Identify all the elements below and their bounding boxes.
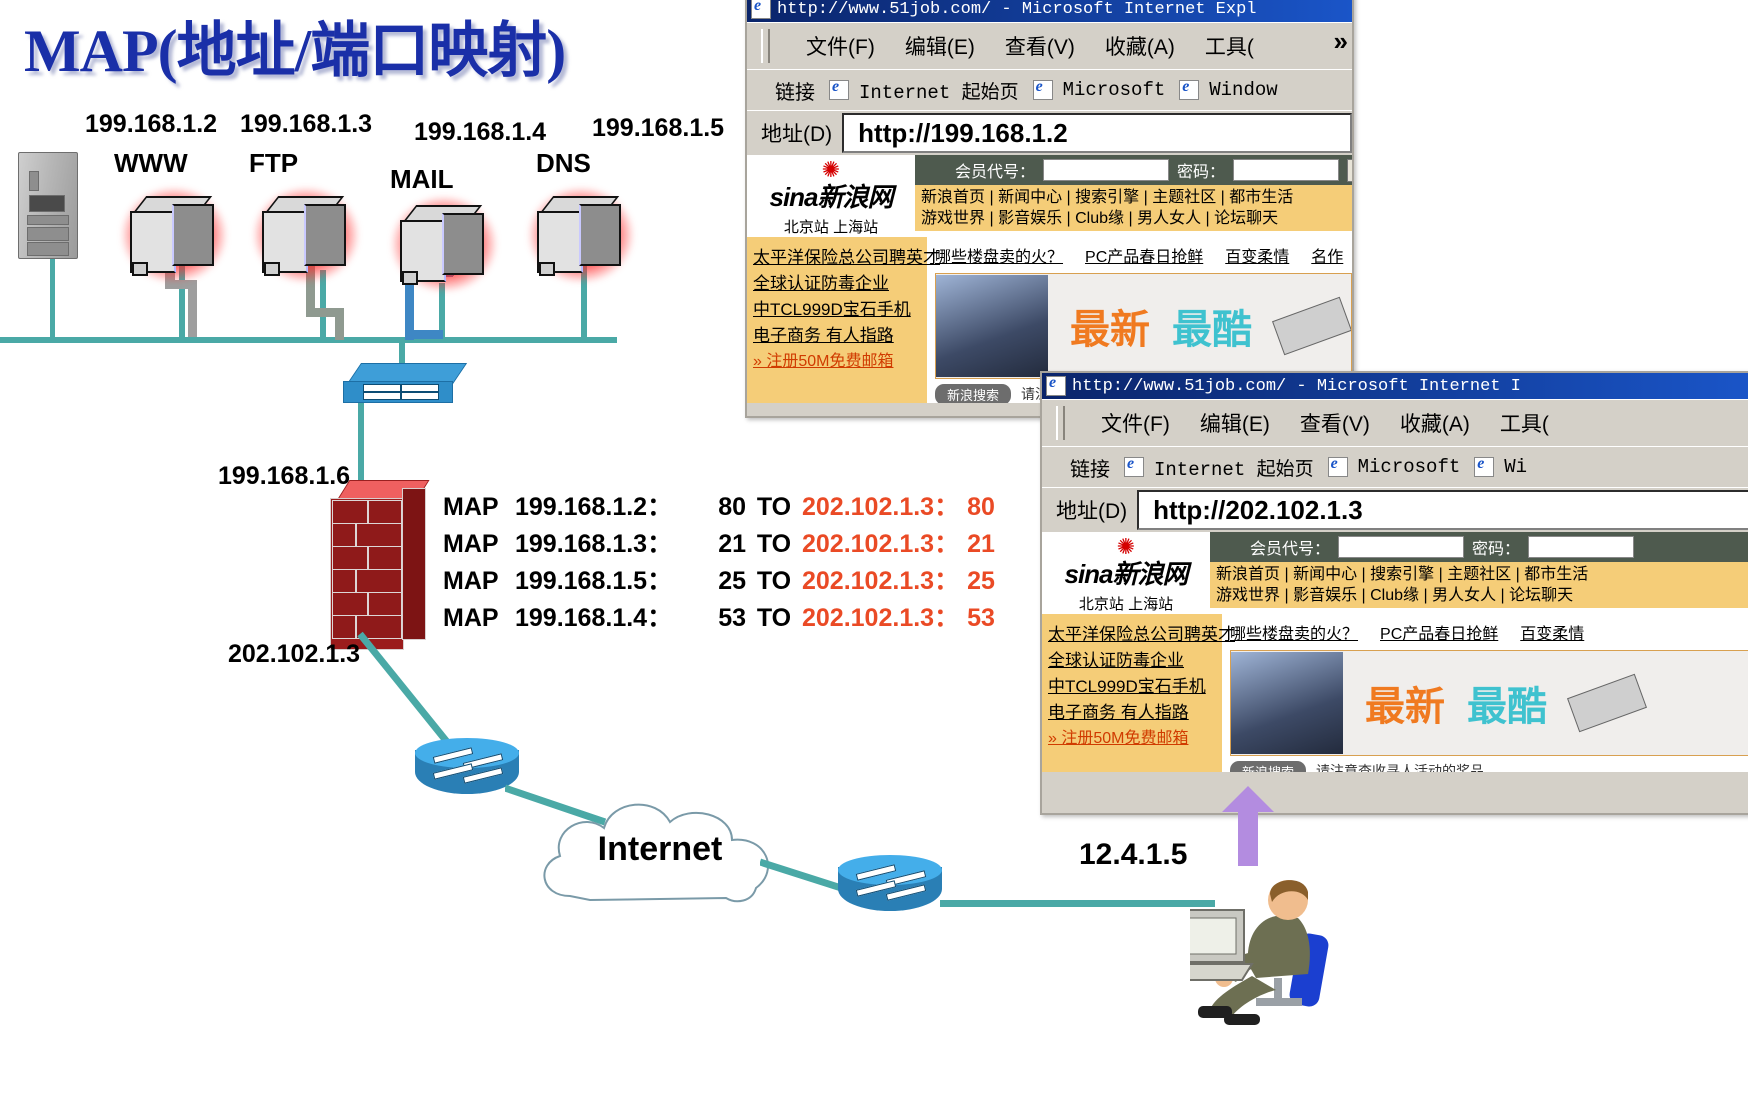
sina-headlines: 哪些楼盘卖的火？ PC产品春日抢鲜 百变柔情 名作 xyxy=(935,243,1352,267)
map-dest-port: 21 xyxy=(959,530,995,559)
nav-city[interactable]: 都市生活 xyxy=(1524,566,1588,583)
browser-addressbar-1[interactable]: 地址(D) http://199.168.1.2 xyxy=(747,110,1352,155)
patch-cable-grey-www3 xyxy=(188,280,197,337)
banner-word-coolest: 最酷 xyxy=(1467,674,1547,732)
sina-nav[interactable]: 新浪首页 | 新闻中心 | 搜索引擎 | 主题社区 | 都市生活 游戏世界 | … xyxy=(1210,562,1748,608)
browser-linksbar-1[interactable]: 链接 Internet 起始页 Microsoft Window xyxy=(747,69,1352,110)
sina-headlines: 哪些楼盘卖的火？ PC产品春日抢鲜 百变柔情 xyxy=(1230,620,1748,644)
address-input[interactable]: http://199.168.1.2 xyxy=(842,113,1352,153)
nav-home[interactable]: 新浪首页 xyxy=(1216,566,1280,583)
browser-menubar-2[interactable]: 文件(F) 编辑(E) 查看(V) 收藏(A) 工具( xyxy=(1042,399,1748,446)
menu-item-tools[interactable]: 工具( xyxy=(1205,31,1254,61)
sina-banner-ad[interactable]: 最新 最酷 xyxy=(1230,650,1748,756)
server-name-label-www: WWW xyxy=(114,148,188,179)
member-id-input[interactable] xyxy=(1338,536,1464,558)
map-dest-port: 80 xyxy=(959,493,995,522)
link-label: Microsoft xyxy=(1358,456,1461,478)
sina-nav-row1: 新浪首页 | 新闻中心 | 搜索引擎 | 主题社区 | 都市生活 xyxy=(921,187,1352,208)
browser-content-1: ✺ sina新浪网 北京站 上海站 会员代号： 密码： 50M邮 新浪首页 | … xyxy=(747,155,1352,403)
server-ip-label-mail: 199.168.1.4 xyxy=(414,118,546,147)
sina-search-row[interactable]: 新浪搜索 请注意查收寻人活动的奖品 xyxy=(1230,760,1748,772)
browser-title-text-2: http://www.51job.com/ - Microsoft Intern… xyxy=(1072,377,1521,396)
ie-logo-icon xyxy=(751,0,771,19)
map-dest-ip: 202.102.1.3： xyxy=(802,598,959,634)
map-dest-ip: 202.102.1.3： xyxy=(802,524,959,560)
headline-works[interactable]: 名作 xyxy=(1311,243,1343,267)
password-label: 密码： xyxy=(1177,158,1225,182)
nav-search[interactable]: 搜索引擎 xyxy=(1075,189,1139,206)
sina-logo[interactable]: ✺ sina新浪网 北京站 上海站 xyxy=(747,155,915,237)
patch-cable-blue-mail4 xyxy=(405,330,443,339)
banner-word-newest: 最新 xyxy=(1365,674,1445,732)
lan-backbone-wire xyxy=(0,337,617,343)
side-link-ecommerce[interactable]: 电子商务 有人指路 xyxy=(753,323,921,349)
map-source-port: 80 xyxy=(690,493,746,522)
menubar-grip[interactable] xyxy=(1056,406,1065,440)
page-icon xyxy=(1179,80,1199,100)
internet-cloud: Internet xyxy=(530,778,790,928)
nav-menwomen[interactable]: 男人女人 xyxy=(1137,210,1201,227)
router-icon-edge xyxy=(415,738,519,804)
map-to-keyword: TO xyxy=(746,530,802,559)
banner-word-coolest: 最酷 xyxy=(1172,297,1252,355)
browser-menubar-1[interactable]: 文件(F) 编辑(E) 查看(V) 收藏(A) 工具( xyxy=(747,22,1352,69)
sina-logo-text: sina新浪网 xyxy=(1042,554,1210,591)
firewall-icon xyxy=(330,480,426,650)
browser-window-2[interactable]: http://www.51job.com/ - Microsoft Intern… xyxy=(1040,371,1748,815)
links-label: 链接 xyxy=(1070,453,1110,482)
map-to-keyword: TO xyxy=(746,493,802,522)
map-keyword: MAP xyxy=(443,530,515,559)
sina-nav-row2: 游戏世界 | 影音娱乐 | Club缘 | 男人女人 | 论坛聊天 xyxy=(1216,585,1746,606)
map-rule-row: MAP 199.168.1.4： 53 TO 202.102.1.3： 53 xyxy=(443,598,995,635)
address-input[interactable]: http://202.102.1.3 xyxy=(1137,490,1748,530)
map-dest-port: 25 xyxy=(959,567,995,596)
links-label: 链接 xyxy=(775,76,815,105)
menubar-grip[interactable] xyxy=(761,29,770,63)
browser-title-text-1: http://www.51job.com/ - Microsoft Intern… xyxy=(777,0,1256,19)
map-keyword: MAP xyxy=(443,567,515,596)
nav-forum[interactable]: 论坛聊天 xyxy=(1214,210,1278,227)
side-link-insurance[interactable]: 太平洋保险总公司聘英才 xyxy=(1048,622,1216,648)
sina-login-bar[interactable]: 会员代号： 密码： xyxy=(1210,532,1748,562)
browser-content-2: ✺ sina新浪网 北京站 上海站 会员代号： 密码： 新浪首页 | 新闻中心 … xyxy=(1042,532,1748,772)
map-to-keyword: TO xyxy=(746,567,802,596)
server-icon-mail xyxy=(400,205,488,283)
link-microsoft[interactable]: Microsoft xyxy=(1033,79,1166,101)
map-source-port: 25 xyxy=(690,567,746,596)
nav-forum[interactable]: 论坛聊天 xyxy=(1509,587,1573,604)
link-windows[interactable]: Window xyxy=(1179,79,1277,101)
mail-50m-button[interactable]: 50M邮 xyxy=(1347,159,1352,182)
sina-banner-ad[interactable]: 最新 最酷 xyxy=(935,273,1352,379)
server-name-label-mail: MAIL xyxy=(390,164,454,195)
menu-item-file[interactable]: 文件(F) xyxy=(1101,408,1170,438)
nav-media[interactable]: 影音娱乐 xyxy=(998,210,1062,227)
sina-logo[interactable]: ✺ sina新浪网 北京站 上海站 xyxy=(1042,532,1210,614)
patch-cable-grey-ftp3 xyxy=(335,308,344,340)
map-source-ip: 199.168.1.2： xyxy=(515,487,690,523)
map-source-ip: 199.168.1.4： xyxy=(515,598,690,634)
map-rule-row: MAP 199.168.1.5： 25 TO 202.102.1.3： 25 xyxy=(443,561,995,598)
browser-titlebar-1: http://www.51job.com/ - Microsoft Intern… xyxy=(747,0,1352,22)
chevron-overflow-icon[interactable]: » xyxy=(1334,26,1348,57)
address-label: 地址(D) xyxy=(1056,495,1127,525)
side-link-ecommerce[interactable]: 电子商务 有人指路 xyxy=(1048,700,1216,726)
map-source-ip: 199.168.1.3： xyxy=(515,524,690,560)
sina-search-text: 请注意查收寻人活动的奖品 xyxy=(1316,761,1484,772)
sina-eye-icon: ✺ xyxy=(747,163,915,177)
map-rule-row: MAP 199.168.1.3： 21 TO 202.102.1.3： 21 xyxy=(443,524,995,561)
mobile-phone-icon xyxy=(1567,674,1647,732)
sina-nav-row2: 游戏世界 | 影音娱乐 | Club缘 | 男人女人 | 论坛聊天 xyxy=(921,208,1352,229)
nav-menwomen[interactable]: 男人女人 xyxy=(1432,587,1496,604)
browser-addressbar-2[interactable]: 地址(D) http://202.102.1.3 xyxy=(1042,487,1748,532)
banner-photo xyxy=(1231,652,1343,754)
side-link-tcl-phone[interactable]: 中TCL999D宝石手机 xyxy=(1048,674,1216,700)
page-title: MAP(地址/端口映射) xyxy=(24,2,565,89)
map-rules-block: MAP 199.168.1.2： 80 TO 202.102.1.3： 80 M… xyxy=(443,487,995,635)
nav-games[interactable]: 游戏世界 xyxy=(921,210,985,227)
page-icon xyxy=(829,80,849,100)
side-link-free-mail[interactable]: » 注册50M免费邮箱 xyxy=(1048,726,1216,752)
server-ip-label-www: 199.168.1.2 xyxy=(85,110,217,139)
sina-search-tab[interactable]: 新浪搜索 xyxy=(935,384,1011,404)
password-input[interactable] xyxy=(1528,536,1634,558)
password-input[interactable] xyxy=(1233,159,1339,181)
sina-stations[interactable]: 北京站 上海站 xyxy=(747,216,915,237)
nav-search[interactable]: 搜索引擎 xyxy=(1370,566,1434,583)
map-source-ip: 199.168.1.5： xyxy=(515,561,690,597)
server-ip-label-ftp: 199.168.1.3 xyxy=(240,110,372,139)
link-label: Internet 起始页 xyxy=(1154,454,1314,481)
link-label: Microsoft xyxy=(1063,79,1166,101)
page-icon xyxy=(1124,457,1144,477)
server-name-label-ftp: FTP xyxy=(249,148,298,179)
link-label: Wi xyxy=(1504,456,1527,478)
sina-sidebar-1: 太平洋保险总公司聘英才 全球认证防毒企业 中TCL999D宝石手机 电子商务 有… xyxy=(747,237,927,403)
server-ip-label-dns: 199.168.1.5 xyxy=(592,114,724,143)
member-id-label: 会员代号： xyxy=(1250,535,1330,559)
server-icon-ftp xyxy=(262,196,350,274)
browser-window-1[interactable]: http://www.51job.com/ - Microsoft Intern… xyxy=(745,0,1354,418)
member-id-label: 会员代号： xyxy=(955,158,1035,182)
map-to-keyword: TO xyxy=(746,604,802,633)
nav-city[interactable]: 都市生活 xyxy=(1229,189,1293,206)
link-windows[interactable]: Wi xyxy=(1474,456,1527,478)
nav-home[interactable]: 新浪首页 xyxy=(921,189,985,206)
page-icon xyxy=(1033,80,1053,100)
map-keyword: MAP xyxy=(443,493,515,522)
menu-item-edit[interactable]: 编辑(E) xyxy=(1200,408,1270,438)
mobile-phone-icon xyxy=(1272,297,1352,355)
map-dest-port: 53 xyxy=(959,604,995,633)
password-label: 密码： xyxy=(1472,535,1520,559)
ie-logo-icon xyxy=(1046,376,1066,396)
sina-stations[interactable]: 北京站 上海站 xyxy=(1042,593,1210,614)
client-user-with-laptop xyxy=(1190,848,1370,1028)
link-label: Internet 起始页 xyxy=(859,77,1019,104)
banner-photo xyxy=(936,275,1048,377)
link-internet-start[interactable]: Internet 起始页 xyxy=(829,77,1019,104)
nav-club[interactable]: Club缘 xyxy=(1075,210,1124,227)
server-icon-www xyxy=(130,196,218,274)
menu-item-favorites[interactable]: 收藏(A) xyxy=(1400,408,1470,438)
headline-pc[interactable]: PC产品春日抢鲜 xyxy=(1085,243,1203,267)
tower-pc xyxy=(18,152,78,259)
nav-games[interactable]: 游戏世界 xyxy=(1216,587,1280,604)
menu-item-file[interactable]: 文件(F) xyxy=(806,31,875,61)
link-label: Window xyxy=(1209,79,1277,101)
headline-romance[interactable]: 百变柔情 xyxy=(1520,620,1584,644)
sina-page-1: ✺ sina新浪网 北京站 上海站 会员代号： 密码： 50M邮 新浪首页 | … xyxy=(747,155,1352,237)
nav-community[interactable]: 主题社区 xyxy=(1152,189,1216,206)
link-internet-start[interactable]: Internet 起始页 xyxy=(1124,454,1314,481)
browser-linksbar-2[interactable]: 链接 Internet 起始页 Microsoft Wi xyxy=(1042,446,1748,487)
headline-pc[interactable]: PC产品春日抢鲜 xyxy=(1380,620,1498,644)
sina-main-2: 哪些楼盘卖的火？ PC产品春日抢鲜 百变柔情 最新 最酷 新浪搜索 请注意查收寻… xyxy=(1222,614,1748,772)
router2-client-wire xyxy=(940,900,1215,907)
page-icon xyxy=(1474,457,1494,477)
client-ip-label: 12.4.1.5 xyxy=(1079,838,1187,872)
member-id-input[interactable] xyxy=(1043,159,1169,181)
sina-login-bar[interactable]: 会员代号： 密码： 50M邮 xyxy=(915,155,1352,185)
nav-news[interactable]: 新闻中心 xyxy=(1293,566,1357,583)
map-rule-row: MAP 199.168.1.2： 80 TO 202.102.1.3： 80 xyxy=(443,487,995,524)
banner-word-newest: 最新 xyxy=(1070,297,1150,355)
address-label: 地址(D) xyxy=(761,118,832,148)
side-link-tcl-phone[interactable]: 中TCL999D宝石手机 xyxy=(753,297,921,323)
server-name-label-dns: DNS xyxy=(536,148,591,179)
map-dest-ip: 202.102.1.3： xyxy=(802,487,959,523)
side-link-insurance[interactable]: 太平洋保险总公司聘英才 xyxy=(753,245,921,271)
router-icon-client xyxy=(838,855,942,921)
sina-nav[interactable]: 新浪首页 | 新闻中心 | 搜索引擎 | 主题社区 | 都市生活 游戏世界 | … xyxy=(915,185,1352,231)
menu-item-view[interactable]: 查看(V) xyxy=(1005,31,1075,61)
menu-item-tools[interactable]: 工具( xyxy=(1500,408,1549,438)
switch-icon xyxy=(343,363,463,405)
server-icon-dns xyxy=(537,196,625,274)
nav-media[interactable]: 影音娱乐 xyxy=(1293,587,1357,604)
side-link-antivirus[interactable]: 全球认证防毒企业 xyxy=(753,271,921,297)
sina-nav-row1: 新浪首页 | 新闻中心 | 搜索引擎 | 主题社区 | 都市生活 xyxy=(1216,564,1746,585)
map-dest-ip: 202.102.1.3： xyxy=(802,561,959,597)
link-microsoft[interactable]: Microsoft xyxy=(1328,456,1461,478)
internet-cloud-label: Internet xyxy=(530,830,790,869)
page-icon xyxy=(1328,457,1348,477)
menu-item-edit[interactable]: 编辑(E) xyxy=(905,31,975,61)
headline-romance[interactable]: 百变柔情 xyxy=(1225,243,1289,267)
map-source-port: 53 xyxy=(690,604,746,633)
switch-firewall-wire xyxy=(358,400,364,485)
browser-titlebar-2: http://www.51job.com/ - Microsoft Intern… xyxy=(1042,373,1748,399)
menu-item-view[interactable]: 查看(V) xyxy=(1300,408,1370,438)
side-link-antivirus[interactable]: 全球认证防毒企业 xyxy=(1048,648,1216,674)
nav-community[interactable]: 主题社区 xyxy=(1447,566,1511,583)
sina-logo-text: sina新浪网 xyxy=(747,177,915,214)
side-link-free-mail[interactable]: » 注册50M免费邮箱 xyxy=(753,349,921,375)
menu-item-favorites[interactable]: 收藏(A) xyxy=(1105,31,1175,61)
nav-news[interactable]: 新闻中心 xyxy=(998,189,1062,206)
sina-search-tab[interactable]: 新浪搜索 xyxy=(1230,761,1306,773)
sina-page-2: ✺ sina新浪网 北京站 上海站 会员代号： 密码： 新浪首页 | 新闻中心 … xyxy=(1042,532,1748,614)
map-source-port: 21 xyxy=(690,530,746,559)
tower-drop-wire xyxy=(50,255,55,341)
sina-eye-icon: ✺ xyxy=(1042,540,1210,554)
nav-club[interactable]: Club缘 xyxy=(1370,587,1419,604)
map-keyword: MAP xyxy=(443,604,515,633)
sina-sidebar-2: 太平洋保险总公司聘英才 全球认证防毒企业 中TCL999D宝石手机 电子商务 有… xyxy=(1042,614,1222,772)
headline-property[interactable]: 哪些楼盘卖的火？ xyxy=(1230,620,1358,644)
headline-property[interactable]: 哪些楼盘卖的火？ xyxy=(935,243,1063,267)
